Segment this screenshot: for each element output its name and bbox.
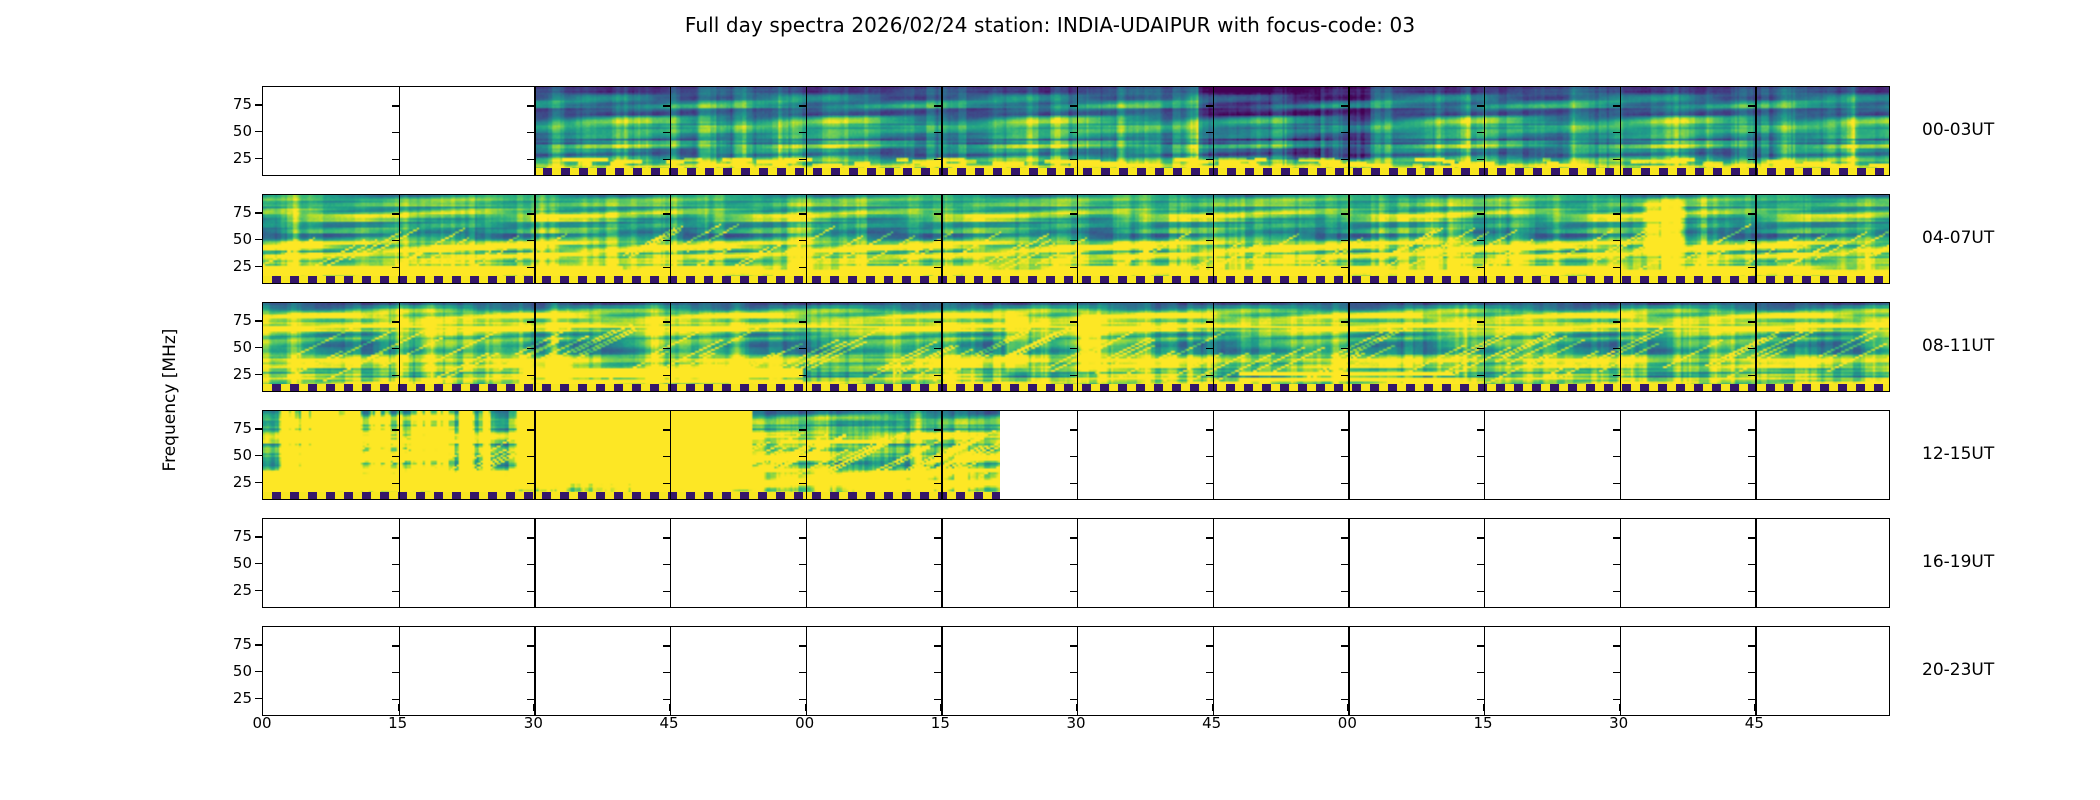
- row-label-00-03ut: 00-03UT: [1922, 120, 1994, 140]
- panel-y-tick: [1341, 537, 1348, 538]
- spectrogram-data-00-03ut: [534, 87, 1889, 175]
- x-axis-tick: [1076, 704, 1077, 711]
- panel-y-tick: [1613, 267, 1620, 268]
- panel-separator: [670, 87, 671, 175]
- panel-y-tick: [1070, 483, 1077, 484]
- panel-y-tick: [663, 213, 670, 214]
- panel-y-tick: [1477, 348, 1484, 349]
- panel-y-tick: [934, 672, 941, 673]
- panel-y-tick: [663, 375, 670, 376]
- y-axis-tick: [255, 428, 262, 429]
- panel-y-tick: [1748, 267, 1755, 268]
- y-axis-tick-label: 75: [206, 311, 252, 329]
- panel-y-tick: [1341, 375, 1348, 376]
- panel-y-tick: [1748, 348, 1755, 349]
- panel-separator: [1077, 519, 1078, 607]
- panel-y-tick: [1613, 483, 1620, 484]
- y-axis-tick-label: 50: [206, 230, 252, 248]
- y-axis-tick: [255, 644, 262, 645]
- panel-y-tick: [934, 240, 941, 241]
- panel-y-tick: [1748, 429, 1755, 430]
- row-label-16-19ut: 16-19UT: [1922, 552, 1994, 572]
- panel-y-tick: [1206, 483, 1213, 484]
- panel-y-tick: [392, 429, 399, 430]
- panel-y-tick: [1341, 159, 1348, 160]
- panel-separator: [806, 627, 807, 715]
- panel-y-tick: [1206, 564, 1213, 565]
- panel-y-tick: [1341, 672, 1348, 673]
- panel-separator: [1213, 627, 1214, 715]
- x-axis-tick-label: 00: [1327, 714, 1367, 732]
- x-axis-tick-label: 30: [1056, 714, 1096, 732]
- panel-y-tick: [663, 132, 670, 133]
- panel-y-tick: [934, 213, 941, 214]
- panel-y-tick: [1748, 321, 1755, 322]
- y-axis-tick-label: 75: [206, 635, 252, 653]
- y-axis-tick-label: 50: [206, 122, 252, 140]
- spectrogram-grid: 75502500-03UT75502504-07UT75502508-11UT7…: [262, 86, 1890, 704]
- panel-y-tick: [1477, 321, 1484, 322]
- panel-y-tick: [527, 240, 534, 241]
- panel-y-tick: [1070, 375, 1077, 376]
- y-axis-tick-label: 75: [206, 95, 252, 113]
- y-axis-tick-label: 25: [206, 365, 252, 383]
- panel-y-tick: [392, 375, 399, 376]
- panel-y-tick: [392, 456, 399, 457]
- y-axis-tick: [255, 212, 262, 213]
- x-axis-tick: [669, 704, 670, 711]
- spectrogram-row-12-15ut[interactable]: [262, 410, 1890, 500]
- panel-y-tick: [1341, 456, 1348, 457]
- y-axis-tick-label: 50: [206, 338, 252, 356]
- panel-separator: [1484, 519, 1485, 607]
- panel-y-tick: [1341, 564, 1348, 565]
- panel-y-tick: [527, 321, 534, 322]
- panel-y-tick: [392, 267, 399, 268]
- panel-separator: [1077, 195, 1078, 283]
- panel-y-tick: [1206, 240, 1213, 241]
- panel-y-tick: [663, 591, 670, 592]
- spectrogram-row-04-07ut[interactable]: [262, 194, 1890, 284]
- panel-y-tick: [1477, 429, 1484, 430]
- panel-separator: [1755, 303, 1756, 391]
- spectrogram-row-16-19ut[interactable]: [262, 518, 1890, 608]
- panel-y-tick: [799, 321, 806, 322]
- panel-separator: [1077, 87, 1078, 175]
- panel-y-tick: [1341, 321, 1348, 322]
- y-axis-tick: [255, 347, 262, 348]
- panel-y-tick: [392, 645, 399, 646]
- panel-separator: [534, 627, 535, 715]
- panel-y-tick: [1206, 132, 1213, 133]
- panel-y-tick: [1477, 645, 1484, 646]
- x-axis-tick-label: 00: [242, 714, 282, 732]
- panel-y-tick: [527, 483, 534, 484]
- x-axis-tick: [1483, 704, 1484, 711]
- panel-y-tick: [663, 348, 670, 349]
- panel-y-tick: [663, 564, 670, 565]
- panel-y-tick: [1613, 537, 1620, 538]
- panel-y-tick: [1206, 537, 1213, 538]
- panel-y-tick: [1206, 321, 1213, 322]
- x-axis-tick-label: 15: [1463, 714, 1503, 732]
- panel-separator: [1213, 87, 1214, 175]
- panel-y-tick: [1070, 348, 1077, 349]
- panel-y-tick: [663, 240, 670, 241]
- panel-y-tick: [1341, 429, 1348, 430]
- panel-y-tick: [799, 429, 806, 430]
- panel-y-tick: [663, 456, 670, 457]
- panel-y-tick: [392, 240, 399, 241]
- panel-y-tick: [392, 321, 399, 322]
- x-axis-tick: [262, 704, 263, 711]
- panel-separator: [941, 195, 942, 283]
- panel-y-tick: [527, 564, 534, 565]
- x-axis-tick-label: 45: [1734, 714, 1774, 732]
- panel-y-tick: [934, 645, 941, 646]
- panel-y-tick: [663, 672, 670, 673]
- panel-y-tick: [1748, 105, 1755, 106]
- panel-separator: [1213, 303, 1214, 391]
- panel-separator: [399, 519, 400, 607]
- x-axis-tick-label: 00: [785, 714, 825, 732]
- panel-y-tick: [934, 483, 941, 484]
- y-axis-tick-label: 25: [206, 689, 252, 707]
- panel-y-tick: [527, 429, 534, 430]
- panel-separator: [1213, 519, 1214, 607]
- panel-separator: [1620, 411, 1621, 499]
- panel-y-tick: [1341, 483, 1348, 484]
- panel-y-tick: [1070, 645, 1077, 646]
- x-axis-tick: [533, 704, 534, 711]
- panel-y-tick: [1613, 348, 1620, 349]
- x-axis-tick: [1347, 704, 1348, 711]
- panel-y-tick: [392, 699, 399, 700]
- y-axis-tick: [255, 536, 262, 537]
- panel-y-tick: [527, 591, 534, 592]
- panel-y-tick: [934, 159, 941, 160]
- y-axis-tick: [255, 374, 262, 375]
- row-label-20-23ut: 20-23UT: [1922, 660, 1994, 680]
- panel-y-tick: [527, 105, 534, 106]
- calibration-dash-band: [263, 492, 1000, 499]
- page-title: Full day spectra 2026/02/24 station: IND…: [0, 13, 2100, 37]
- panel-y-tick: [1613, 672, 1620, 673]
- panel-separator: [806, 303, 807, 391]
- x-axis-tick-label: 30: [1599, 714, 1639, 732]
- panel-y-tick: [663, 267, 670, 268]
- panel-y-tick: [392, 591, 399, 592]
- spectrogram-canvas: [263, 303, 1889, 391]
- panel-separator: [399, 303, 400, 391]
- panel-separator: [534, 195, 535, 283]
- spectrogram-data-08-11ut: [263, 303, 1889, 391]
- panel-separator: [1755, 87, 1756, 175]
- panel-y-tick: [663, 699, 670, 700]
- panel-y-tick: [1206, 645, 1213, 646]
- panel-y-tick: [1748, 645, 1755, 646]
- y-axis-tick-label: 75: [206, 419, 252, 437]
- panel-y-tick: [1070, 672, 1077, 673]
- panel-y-tick: [1748, 672, 1755, 673]
- panel-y-tick: [1070, 564, 1077, 565]
- panel-y-tick: [1070, 105, 1077, 106]
- panel-y-tick: [527, 456, 534, 457]
- panel-y-tick: [1477, 699, 1484, 700]
- panel-separator: [1620, 627, 1621, 715]
- panel-y-tick: [392, 483, 399, 484]
- panel-separator: [399, 87, 400, 175]
- panel-y-tick: [1748, 240, 1755, 241]
- x-axis-tick: [1619, 704, 1620, 711]
- panel-separator: [670, 195, 671, 283]
- x-axis-tick: [398, 704, 399, 711]
- x-axis-tick-label: 45: [1192, 714, 1232, 732]
- panel-y-tick: [799, 483, 806, 484]
- panel-y-tick: [1070, 591, 1077, 592]
- panel-y-tick: [1070, 456, 1077, 457]
- panel-y-tick: [663, 483, 670, 484]
- spectrogram-row-08-11ut[interactable]: [262, 302, 1890, 392]
- panel-separator: [1620, 195, 1621, 283]
- panel-y-tick: [1748, 537, 1755, 538]
- panel-y-tick: [1748, 699, 1755, 700]
- panel-y-tick: [799, 537, 806, 538]
- panel-y-tick: [1206, 348, 1213, 349]
- panel-y-tick: [1748, 564, 1755, 565]
- panel-separator: [806, 519, 807, 607]
- panel-y-tick: [1477, 564, 1484, 565]
- panel-y-tick: [799, 159, 806, 160]
- panel-separator: [1077, 303, 1078, 391]
- calibration-dash-band: [263, 384, 1889, 391]
- panel-separator: [1348, 627, 1349, 715]
- panel-separator: [941, 303, 942, 391]
- panel-y-tick: [1748, 132, 1755, 133]
- panel-y-tick: [1070, 699, 1077, 700]
- panel-separator: [1213, 411, 1214, 499]
- panel-separator: [1348, 411, 1349, 499]
- y-axis-tick: [255, 239, 262, 240]
- x-axis-tick-label: 45: [649, 714, 689, 732]
- panel-y-tick: [799, 132, 806, 133]
- x-axis: 001530450015304500153045: [262, 704, 1890, 764]
- panel-y-tick: [527, 348, 534, 349]
- panel-separator: [534, 411, 535, 499]
- panel-separator: [1755, 411, 1756, 499]
- x-axis-tick: [940, 704, 941, 711]
- panel-separator: [806, 195, 807, 283]
- calibration-dash-band: [534, 168, 1889, 175]
- panel-y-tick: [527, 537, 534, 538]
- panel-y-tick: [663, 105, 670, 106]
- panel-y-tick: [1477, 375, 1484, 376]
- y-axis-tick: [255, 455, 262, 456]
- panel-y-tick: [392, 132, 399, 133]
- panel-y-tick: [799, 456, 806, 457]
- spectrogram-data-12-15ut: [263, 411, 1000, 499]
- panel-y-tick: [799, 564, 806, 565]
- y-axis-tick-label: 25: [206, 149, 252, 167]
- panel-y-tick: [1341, 699, 1348, 700]
- spectrogram-data-04-07ut: [263, 195, 1889, 283]
- panel-y-tick: [934, 456, 941, 457]
- panel-separator: [1755, 519, 1756, 607]
- panel-y-tick: [1206, 375, 1213, 376]
- panel-separator: [1077, 411, 1078, 499]
- panel-y-tick: [1477, 456, 1484, 457]
- panel-y-tick: [1341, 267, 1348, 268]
- panel-y-tick: [1613, 321, 1620, 322]
- panel-y-tick: [527, 159, 534, 160]
- y-axis-tick-label: 25: [206, 257, 252, 275]
- panel-y-tick: [1613, 564, 1620, 565]
- panel-y-tick: [1341, 240, 1348, 241]
- y-axis-tick: [255, 563, 262, 564]
- panel-y-tick: [934, 105, 941, 106]
- panel-separator: [941, 627, 942, 715]
- panel-y-tick: [392, 348, 399, 349]
- panel-y-tick: [1477, 267, 1484, 268]
- panel-y-tick: [1748, 483, 1755, 484]
- panel-y-tick: [1206, 672, 1213, 673]
- panel-y-tick: [392, 564, 399, 565]
- panel-separator: [941, 519, 942, 607]
- panel-y-tick: [1206, 699, 1213, 700]
- panel-y-tick: [527, 267, 534, 268]
- spectrogram-row-00-03ut[interactable]: [262, 86, 1890, 176]
- panel-y-tick: [1613, 240, 1620, 241]
- panel-y-tick: [799, 213, 806, 214]
- panel-y-tick: [663, 645, 670, 646]
- panel-y-tick: [1477, 240, 1484, 241]
- spectrogram-canvas: [263, 195, 1889, 283]
- panel-separator: [1484, 195, 1485, 283]
- panel-separator: [1348, 519, 1349, 607]
- panel-y-tick: [934, 348, 941, 349]
- panel-y-tick: [1613, 699, 1620, 700]
- y-axis-tick-label: 50: [206, 446, 252, 464]
- panel-y-tick: [1206, 105, 1213, 106]
- panel-y-tick: [1206, 456, 1213, 457]
- panel-separator: [670, 627, 671, 715]
- panel-y-tick: [934, 591, 941, 592]
- panel-y-tick: [1206, 213, 1213, 214]
- panel-separator: [534, 519, 535, 607]
- panel-y-tick: [934, 537, 941, 538]
- panel-y-tick: [527, 645, 534, 646]
- panel-y-tick: [1477, 591, 1484, 592]
- panel-separator: [670, 303, 671, 391]
- panel-y-tick: [663, 537, 670, 538]
- panel-separator: [399, 195, 400, 283]
- panel-y-tick: [1341, 105, 1348, 106]
- panel-y-tick: [1206, 429, 1213, 430]
- panel-y-tick: [1613, 375, 1620, 376]
- y-axis-tick-label: 25: [206, 473, 252, 491]
- panel-y-tick: [1613, 591, 1620, 592]
- panel-y-tick: [1477, 672, 1484, 673]
- y-axis-tick: [255, 320, 262, 321]
- panel-y-tick: [799, 348, 806, 349]
- panel-separator: [806, 411, 807, 499]
- panel-y-tick: [663, 321, 670, 322]
- panel-y-tick: [799, 672, 806, 673]
- panel-y-tick: [799, 267, 806, 268]
- panel-y-tick: [934, 132, 941, 133]
- y-axis-title: Frequency [MHz]: [160, 329, 180, 472]
- spectrogram-canvas: [534, 87, 1889, 175]
- panel-y-tick: [392, 159, 399, 160]
- panel-y-tick: [1206, 591, 1213, 592]
- panel-separator: [1484, 627, 1485, 715]
- panel-y-tick: [392, 537, 399, 538]
- panel-y-tick: [1070, 321, 1077, 322]
- panel-separator: [670, 411, 671, 499]
- panel-separator: [1620, 87, 1621, 175]
- x-axis-tick-label: 15: [378, 714, 418, 732]
- panel-separator: [670, 519, 671, 607]
- y-axis-tick: [255, 158, 262, 159]
- panel-y-tick: [934, 375, 941, 376]
- panel-y-tick: [527, 375, 534, 376]
- row-label-04-07ut: 04-07UT: [1922, 228, 1994, 248]
- y-axis-tick-label: 50: [206, 554, 252, 572]
- x-axis-tick-label: 15: [920, 714, 960, 732]
- panel-separator: [941, 411, 942, 499]
- panel-separator: [1620, 519, 1621, 607]
- panel-y-tick: [934, 699, 941, 700]
- panel-y-tick: [527, 213, 534, 214]
- y-axis-tick-label: 25: [206, 581, 252, 599]
- panel-y-tick: [1613, 213, 1620, 214]
- x-axis-tick-label: 30: [513, 714, 553, 732]
- y-axis-tick-label: 75: [206, 203, 252, 221]
- panel-y-tick: [799, 699, 806, 700]
- panel-separator: [1348, 87, 1349, 175]
- panel-separator: [1755, 627, 1756, 715]
- panel-separator: [1484, 87, 1485, 175]
- panel-y-tick: [1613, 105, 1620, 106]
- panel-separator: [534, 87, 535, 175]
- row-label-08-11ut: 08-11UT: [1922, 336, 1994, 356]
- panel-y-tick: [1070, 132, 1077, 133]
- panel-y-tick: [663, 429, 670, 430]
- panel-separator: [1077, 627, 1078, 715]
- panel-separator: [1213, 195, 1214, 283]
- panel-separator: [941, 87, 942, 175]
- panel-y-tick: [1070, 429, 1077, 430]
- panel-y-tick: [1748, 456, 1755, 457]
- panel-y-tick: [1341, 132, 1348, 133]
- panel-y-tick: [1477, 537, 1484, 538]
- panel-y-tick: [392, 672, 399, 673]
- panel-y-tick: [392, 213, 399, 214]
- panel-separator: [1755, 195, 1756, 283]
- panel-y-tick: [1613, 456, 1620, 457]
- panel-y-tick: [1477, 132, 1484, 133]
- spectrogram-row-20-23ut[interactable]: [262, 626, 1890, 716]
- panel-separator: [806, 87, 807, 175]
- panel-y-tick: [663, 159, 670, 160]
- x-axis-tick: [1212, 704, 1213, 711]
- panel-y-tick: [1477, 159, 1484, 160]
- panel-y-tick: [1477, 483, 1484, 484]
- panel-y-tick: [1748, 375, 1755, 376]
- y-axis-tick-label: 75: [206, 527, 252, 545]
- panel-y-tick: [934, 429, 941, 430]
- panel-y-tick: [1613, 645, 1620, 646]
